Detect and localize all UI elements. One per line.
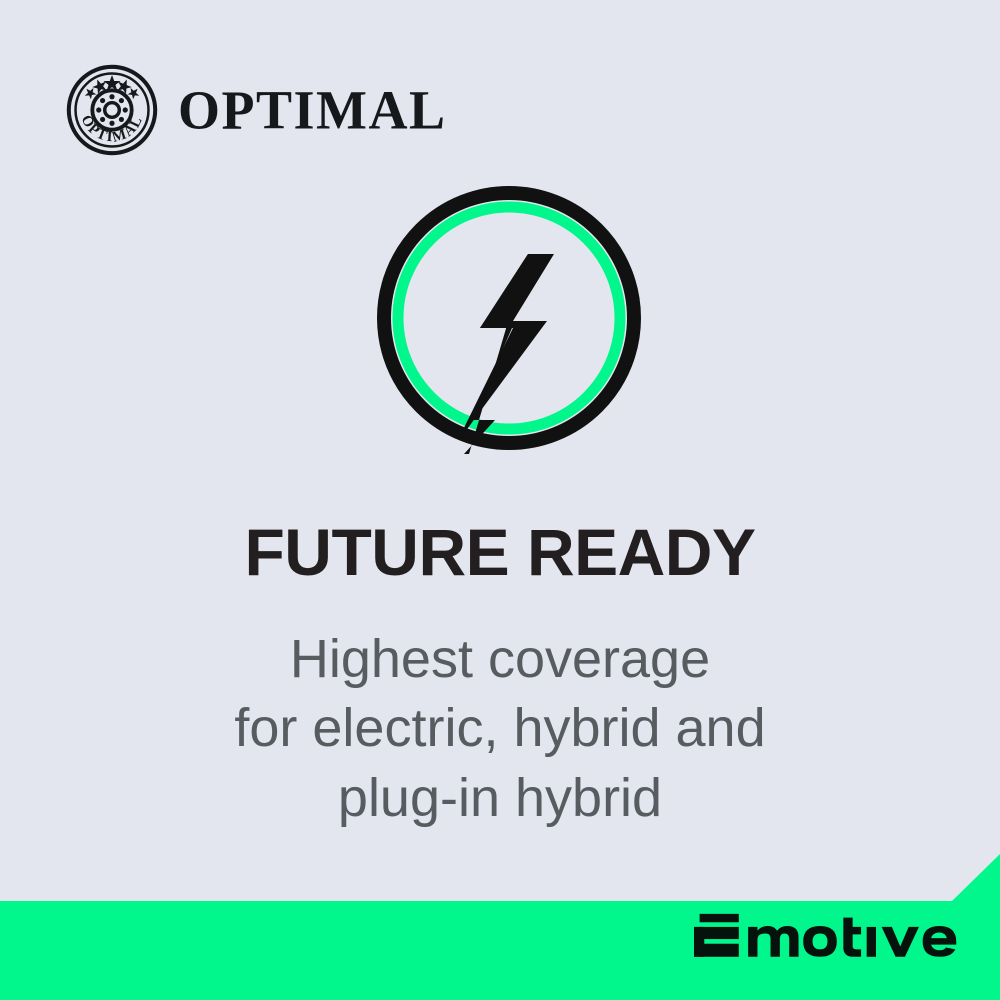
emotive-logo xyxy=(694,912,974,968)
subcopy-line-3: plug-in hybrid xyxy=(60,764,940,833)
brand-wordmark: OPTIMAL xyxy=(178,82,447,137)
optimal-bearing-badge-icon: OPTIMAL xyxy=(64,62,160,158)
page-title: FUTURE READY xyxy=(60,518,940,587)
lightning-bolt-in-circle-icon xyxy=(376,182,642,454)
brand-lockup: OPTIMAL OPTIMAL xyxy=(64,62,447,158)
subcopy-line-2: for electric, hybrid and xyxy=(60,694,940,763)
subcopy: Highest coverage for electric, hybrid an… xyxy=(60,625,940,832)
subcopy-line-1: Highest coverage xyxy=(60,625,940,694)
copy-block: FUTURE READY Highest coverage for electr… xyxy=(0,518,1000,833)
poster-canvas: OPTIMAL OPTIMAL xyxy=(0,0,1000,1000)
